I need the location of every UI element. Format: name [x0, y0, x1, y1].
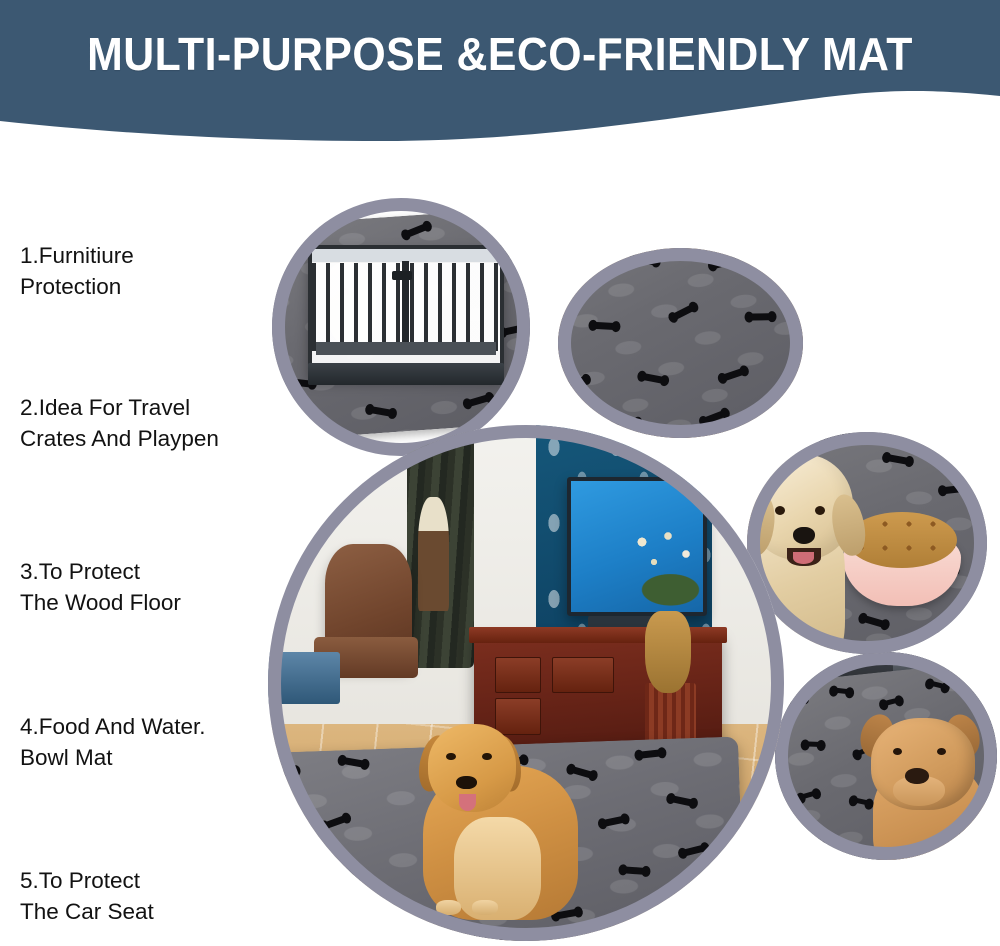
feature-list: 1.Furnitiure Protection 2.Idea For Trave… — [20, 240, 282, 927]
header-banner: MULTI-PURPOSE &ECO-FRIENDLY MAT — [0, 0, 1000, 150]
bone-icon — [646, 918, 669, 930]
dog-nose — [793, 527, 815, 544]
wood-floor-scene — [558, 248, 803, 438]
product-infographic: MULTI-PURPOSE &ECO-FRIENDLY MAT 1.Furnit… — [0, 0, 1000, 946]
mat-edge — [558, 248, 803, 438]
bone-icon — [370, 406, 393, 417]
bone-icon — [801, 791, 817, 800]
puppy-on-car-seat-photo — [775, 652, 997, 860]
dog-in-living-room-photo — [268, 425, 784, 941]
puppy-eye-left — [893, 748, 902, 755]
coffee-table — [268, 652, 340, 704]
bone-icon — [467, 394, 490, 407]
bone-icon — [789, 696, 805, 707]
puppy-paw-left — [887, 852, 915, 860]
bone-icon — [277, 860, 300, 870]
dog-eye-right — [815, 506, 825, 515]
bone-icon — [854, 797, 870, 805]
crate-latch — [392, 271, 412, 280]
bone-icon — [822, 838, 838, 845]
puppy-eye-right — [937, 748, 946, 755]
console-drawer — [552, 657, 614, 693]
living-room-scene — [268, 425, 784, 941]
dog-nose — [456, 776, 477, 789]
puppy-nose — [905, 768, 929, 784]
bone-icon — [273, 767, 296, 780]
bone-icon — [405, 223, 428, 238]
dog-crate — [308, 245, 504, 377]
table-lamp — [418, 497, 449, 611]
feature-item-food-bowl-mat: 4.Food And Water. Bowl Mat — [20, 711, 282, 773]
feature-item-furniture-protection: 1.Furnitiure Protection — [20, 240, 282, 302]
bone-icon — [887, 454, 910, 465]
bone-icon — [602, 816, 625, 827]
dog-tongue — [793, 552, 814, 564]
dog-paw-left — [436, 900, 462, 915]
bone-icon — [683, 844, 706, 856]
bone-icon — [806, 741, 821, 747]
mat-on-wood-floor-photo — [558, 248, 803, 438]
feature-item-car-seat: 5.To Protect The Car Seat — [20, 865, 282, 927]
bone-icon — [325, 815, 348, 829]
bone-icon — [502, 324, 525, 335]
page-title: MULTI-PURPOSE &ECO-FRIENDLY MAT — [35, 26, 965, 82]
bone-icon — [478, 931, 500, 939]
car-seat-scene — [775, 652, 997, 860]
bone-icon — [343, 757, 366, 768]
bone-icon — [358, 923, 381, 938]
bone-icon — [883, 698, 899, 706]
crate-scene — [272, 198, 530, 456]
bone-icon — [268, 809, 278, 821]
dog-chest — [454, 817, 542, 920]
bone-icon — [346, 869, 369, 882]
bone-icon — [930, 681, 946, 689]
bone-icon — [269, 914, 292, 924]
feature-item-wood-floor: 3.To Protect The Wood Floor — [20, 556, 282, 618]
feature-item-travel-crates: 2.Idea For Travel Crates And Playpen — [20, 392, 282, 454]
bone-icon — [834, 688, 849, 695]
bone-icon — [640, 750, 663, 759]
bone-icon — [571, 766, 594, 779]
bone-icon — [624, 866, 646, 875]
crate-tray — [316, 342, 496, 355]
crate-base — [308, 363, 504, 385]
flower-arrangement — [624, 528, 717, 631]
bone-icon — [941, 633, 963, 642]
bone-icon — [671, 795, 694, 806]
puppy-paw-right — [925, 852, 953, 860]
dog-paw-right — [472, 900, 498, 915]
console-drawer — [495, 698, 541, 734]
bone-icon — [862, 615, 885, 628]
dog-in-crate-photo — [272, 198, 530, 456]
console-drawer — [495, 657, 541, 693]
bone-icon — [822, 432, 845, 442]
bone-icon — [943, 485, 966, 494]
